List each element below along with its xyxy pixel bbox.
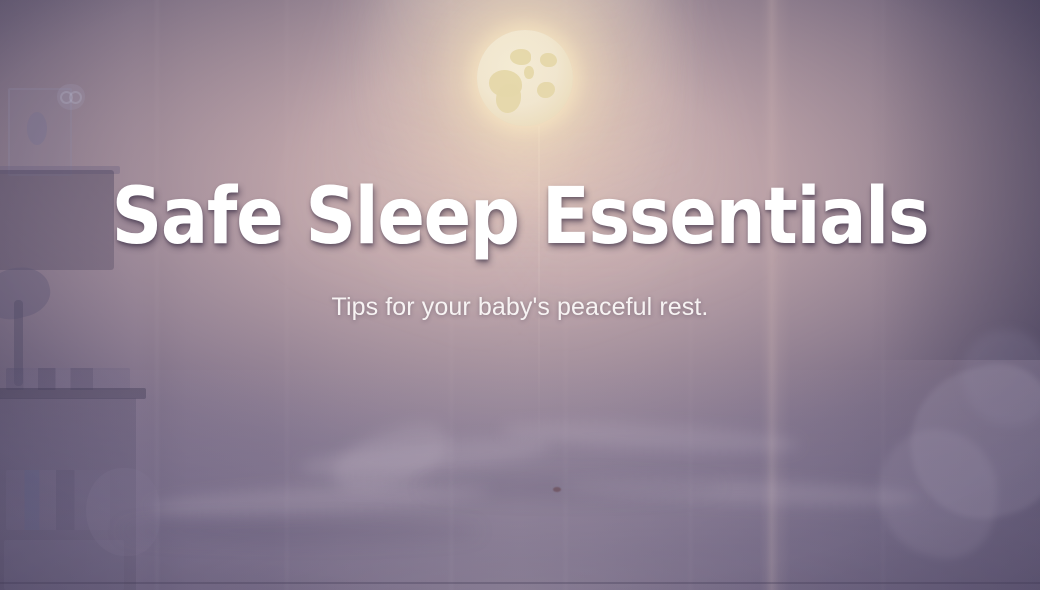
moon-crater	[537, 82, 554, 98]
blanket-fold	[500, 416, 801, 458]
moon-crater	[496, 84, 521, 113]
page-title: Safe Sleep Essentials	[52, 178, 988, 256]
owl-icon	[57, 84, 85, 110]
blanket-shadow	[120, 520, 480, 542]
bed-blanket	[0, 370, 1040, 590]
slide-canvas: Safe Sleep Essentials Tips for your baby…	[0, 0, 1040, 590]
moon-crater	[510, 49, 531, 64]
bed-speck	[553, 487, 561, 492]
moon-crater	[540, 53, 556, 67]
moon-disc	[477, 30, 573, 126]
moon-icon	[477, 30, 573, 126]
title-block: Safe Sleep Essentials Tips for your baby…	[0, 178, 1040, 322]
bottom-edge-line	[0, 582, 1040, 584]
moon-crater	[524, 66, 534, 79]
page-subtitle: Tips for your baby's peaceful rest.	[0, 292, 1040, 322]
blanket-shadow	[420, 476, 720, 498]
